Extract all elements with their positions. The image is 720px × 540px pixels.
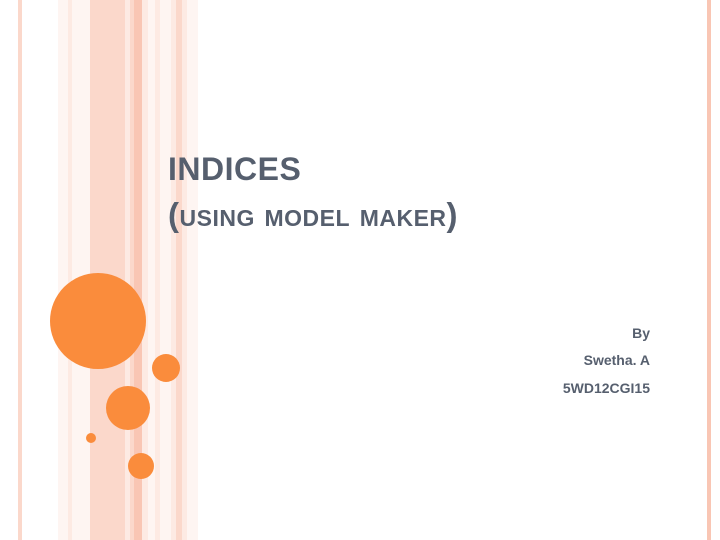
byline-prefix: By	[330, 320, 650, 347]
page-title: Indices	[168, 140, 648, 188]
title-block: Indices (using model maker)	[168, 140, 648, 234]
presentation-slide: Indices (using model maker) By Swetha. A…	[0, 0, 720, 540]
stripe-4	[90, 0, 125, 540]
byline-author: Swetha. A	[330, 347, 650, 374]
decorative-circle-2	[152, 354, 180, 382]
stripe-1	[58, 0, 68, 540]
left-stripe-band	[0, 0, 180, 540]
page-subtitle: (using model maker)	[168, 196, 648, 234]
decorative-circle-4	[86, 433, 96, 443]
stripe-0	[18, 0, 22, 540]
stripe-15	[187, 0, 198, 540]
stripe-11	[160, 0, 171, 540]
decorative-circle-3	[106, 386, 150, 430]
byline-block: By Swetha. A 5WD12CGI15	[330, 320, 650, 402]
decorative-circle-1	[50, 273, 146, 369]
stripe-3	[72, 0, 90, 540]
decorative-circle-5	[128, 453, 154, 479]
right-edge-stripe	[707, 0, 711, 540]
byline-roll-number: 5WD12CGI15	[330, 375, 650, 402]
